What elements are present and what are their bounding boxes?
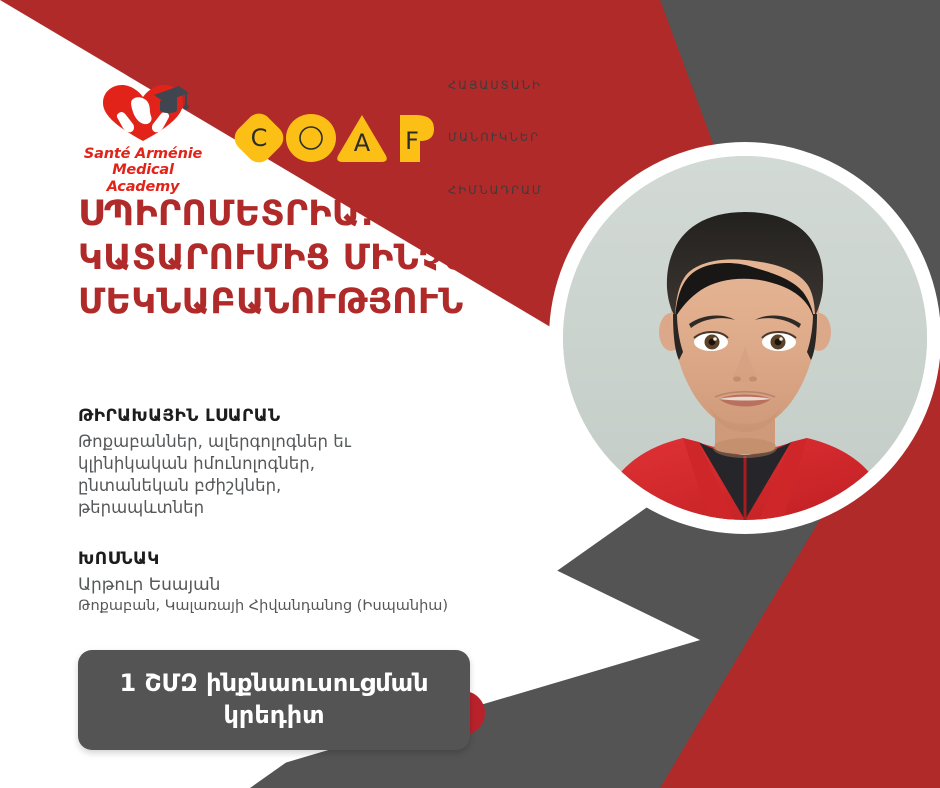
title-line-3: ՄԵԿՆԱԲԱՆՈՒԹՅՈՒՆ <box>78 280 578 324</box>
target-audience-heading: ԹԻՐԱԽԱՅԻՆ ԼՍԱՐԱՆ <box>78 406 548 426</box>
svg-text:F: F <box>405 127 419 155</box>
svg-text:A: A <box>354 129 371 157</box>
sante-armenie-wordmark: Santé Arménie Medical Academy <box>78 146 208 196</box>
speaker-block: ԽՈՍՆԱԿ Արթուր Եսայան Թոքաբան, Կալառայի Հ… <box>78 549 548 616</box>
page-title: ՍՊԻՐՈՄԵՏՐԻԱ. ԿԱՏԱՐՈՒՄԻՑ ՄԻՆՉԵՒ ՄԵԿՆԱԲԱՆՈ… <box>78 192 578 324</box>
svg-text:C: C <box>251 124 268 152</box>
credit-line-2: կրեդիտ <box>223 701 324 729</box>
speaker-name: Արթուր Եսայան <box>78 574 548 596</box>
target-audience-body: Թոքաբաններ, ալերգոլոգներ եւ կլինիկական ի… <box>78 431 548 519</box>
audience-line-2: կլինիկական իմունոլոգներ, <box>78 453 548 475</box>
speaker-heading: ԽՈՍՆԱԿ <box>78 549 548 569</box>
poster-canvas: Santé Arménie Medical Academy C A <box>0 0 940 788</box>
sante-armenie-logo[interactable]: Santé Arménie Medical Academy <box>78 81 208 196</box>
coaf-armenian-line2: ՄԱՆՈՒԿՆԵՐ <box>448 129 543 146</box>
sante-armenie-line2: Medical Academy <box>78 162 208 195</box>
portrait-image-clip <box>563 156 927 520</box>
coaf-armenian-line1: ՀԱՅԱՍՏԱՆԻ <box>448 77 543 94</box>
sante-armenie-line1: Santé Arménie <box>78 146 208 163</box>
credit-badge[interactable]: 1 ՇՄԶ ինքնաուսուցման կրեդիտ <box>78 650 470 750</box>
speaker-role: Թոքաբան, Կալառայի Հիվանդանոց (Իսպանիա) <box>78 596 548 616</box>
credit-line-1: 1 ՇՄԶ ինքնաուսուցման <box>119 669 428 697</box>
speaker-portrait <box>549 142 940 534</box>
coaf-letter-marks: C A F <box>234 109 434 167</box>
title-line-2: ԿԱՏԱՐՈՒՄԻՑ ՄԻՆՉԵՒ <box>78 236 578 280</box>
heart-graduation-cap-hands-logo-icon <box>97 81 189 143</box>
audience-line-4: թերապևտներ <box>78 497 548 519</box>
title-line-1: ՍՊԻՐՈՄԵՏՐԻԱ. <box>78 192 578 236</box>
target-audience-block: ԹԻՐԱԽԱՅԻՆ ԼՍԱՐԱՆ Թոքաբաններ, ալերգոլոգնե… <box>78 406 548 519</box>
credit-badge-text: 1 ՇՄԶ ինքնաուսուցման կրեդիտ <box>101 668 446 732</box>
audience-line-3: ընտանեկան բժիշկներ, <box>78 475 548 497</box>
portrait-illustration <box>563 156 927 520</box>
audience-line-1: Թոքաբաններ, ալերգոլոգներ եւ <box>78 431 548 453</box>
